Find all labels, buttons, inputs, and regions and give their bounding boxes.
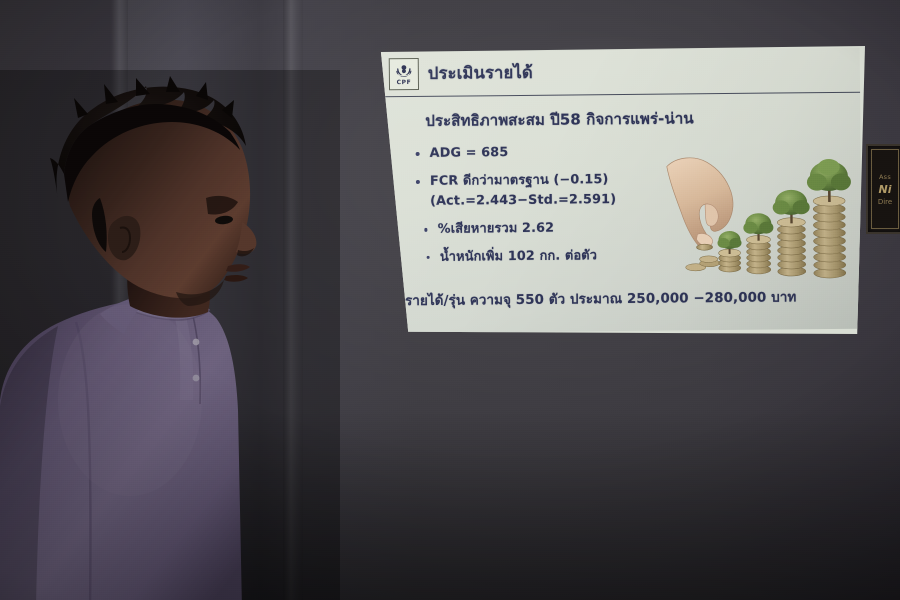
- list-item: ADG = 685: [416, 143, 666, 164]
- wall-plaque: Ass Ni Dire: [866, 144, 900, 234]
- bullet-dot-icon: [427, 255, 430, 258]
- slide-body: ประสิทธิภาพสะสม ปี58 กิจการแพร่-น่าน: [381, 93, 862, 334]
- cpf-logo: CPF: [389, 58, 419, 90]
- bullet-text: ADG = 685: [430, 144, 509, 163]
- bullet-text: FCR ดีกว่ามาตรฐาน (−0.15) (Act.=2.443−St…: [430, 171, 616, 211]
- plaque-line-3: Dire: [878, 198, 892, 206]
- slide-subtitle: ประสิทธิภาพสะสม ปี58 กิจการแพร่-น่าน: [425, 106, 694, 133]
- wall-plaque-inner: Ass Ni Dire: [871, 149, 899, 229]
- coins-and-trees-illustration: [661, 145, 858, 297]
- bullet-text: น้ำหนักเพิ่ม 102 กก. ต่อตัว: [440, 247, 597, 267]
- coin-stack-3: [773, 190, 811, 276]
- plaque-line-1: Ass: [879, 173, 891, 181]
- slide-bullet-list: ADG = 685 FCR ดีกว่ามาตรฐาน (−0.15) (Act…: [416, 143, 667, 276]
- list-item: น้ำหนักเพิ่ม 102 กก. ต่อตัว: [417, 246, 667, 267]
- list-item: %เสียหายรวม 2.62: [416, 219, 666, 240]
- slide-sheet: CPF ประเมินรายได้ ประสิทธิภาพสะสม ปี58 ก…: [381, 48, 863, 334]
- list-item: FCR ดีกว่ามาตรฐาน (−0.15) (Act.=2.443−St…: [416, 171, 666, 212]
- slide-header: CPF ประเมินรายได้: [381, 48, 860, 98]
- bullet-dot-icon: [424, 228, 427, 231]
- coin-stack-1: [717, 231, 741, 272]
- bullet-text-main: FCR ดีกว่ามาตรฐาน (−0.15): [430, 172, 609, 189]
- slide-footer-text: รายได้/รุ่น ความจุ 550 ตัว ประมาณ 250,00…: [405, 286, 848, 311]
- photo-scene: Ass Ni Dire: [0, 0, 900, 600]
- bullet-text: %เสียหายรวม 2.62: [438, 220, 555, 239]
- coin-stack-4: [807, 159, 852, 278]
- coin-stack-2: [743, 213, 774, 274]
- man-in-profile: [0, 70, 340, 600]
- cpf-logo-wordmark: CPF: [397, 80, 412, 86]
- slide-title: ประเมินรายได้: [428, 65, 533, 83]
- plaque-line-2: Ni: [879, 183, 892, 196]
- projected-slide: CPF ประเมินรายได้ ประสิทธิภาพสะสม ปี58 ก…: [378, 46, 865, 334]
- bullet-dot-icon: [416, 152, 420, 156]
- bullet-dot-icon: [416, 180, 420, 184]
- bullet-text-continuation: (Act.=2.443−Std.=2.591): [430, 191, 616, 211]
